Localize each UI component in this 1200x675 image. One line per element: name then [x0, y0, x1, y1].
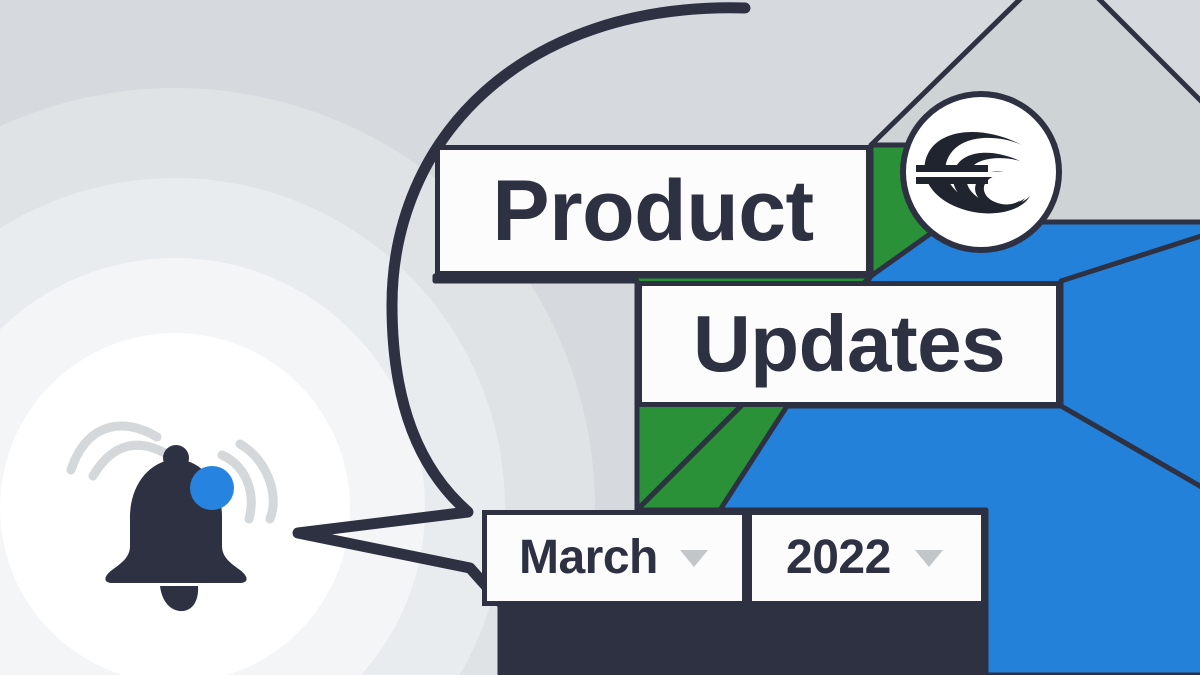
product-updates-banner: Product Updates March 2022: [0, 0, 1200, 675]
brand-logo-badge-icon: [903, 94, 1059, 250]
month-dropdown-label: March: [519, 534, 658, 582]
chevron-down-icon: [680, 550, 708, 567]
bell-handle: [163, 445, 189, 471]
chevron-down-icon: [915, 550, 943, 567]
notification-dot-icon: [190, 466, 234, 510]
month-dropdown[interactable]: March: [482, 510, 747, 606]
badge-bar-slit: [916, 172, 1028, 177]
year-dropdown[interactable]: 2022: [747, 510, 986, 606]
year-dropdown-label: 2022: [786, 534, 891, 582]
